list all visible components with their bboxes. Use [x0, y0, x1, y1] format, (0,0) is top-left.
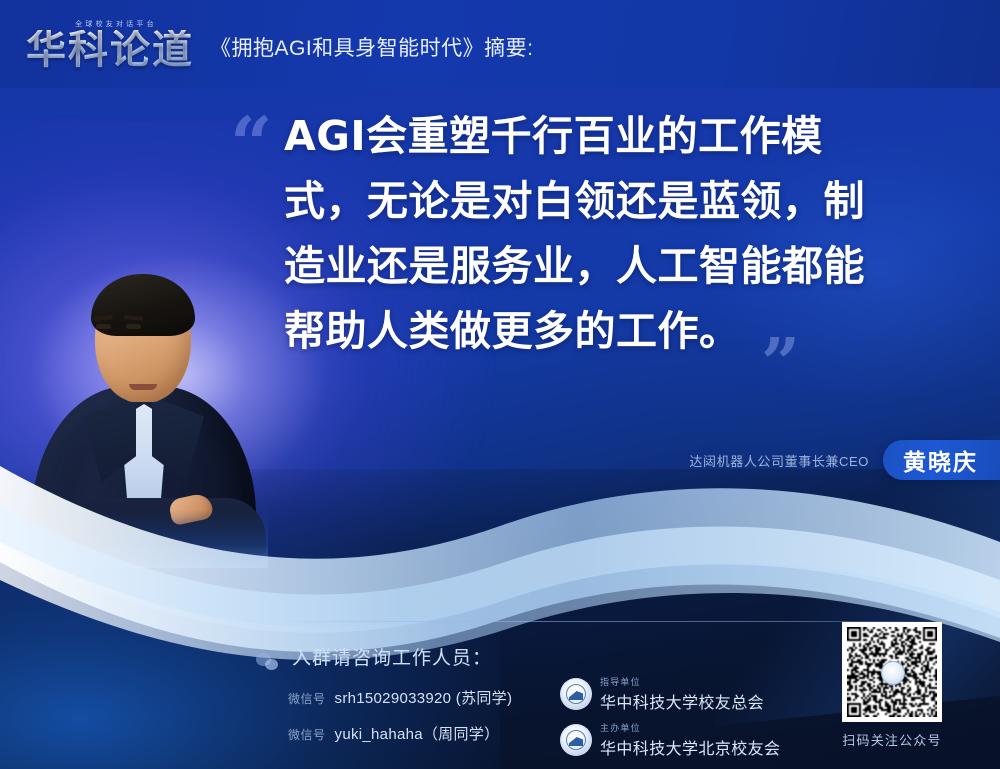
contact-row: 微信号 srh15029033920 (苏同学)	[288, 687, 512, 708]
contact-label: 微信号	[288, 690, 326, 707]
contact-value: yuki_hahaha（周同学）	[335, 723, 500, 744]
speaker-role: 达闼机器人公司董事长兼CEO	[689, 451, 869, 470]
organization-name: 华中科技大学校友总会	[600, 689, 764, 713]
contact-label: 微信号	[288, 726, 326, 743]
brand-logo-block: 全球校友对话平台 华科论道	[26, 19, 194, 70]
organization-name: 华中科技大学北京校友会	[600, 735, 780, 759]
quote-block: “ AGI会重塑千行百业的工作模 式，无论是对白领还是蓝领，制 造业还是服务业，…	[228, 104, 968, 364]
portrait-eye-left	[96, 324, 111, 329]
speaker-name-badge: 黄晓庆	[883, 440, 1000, 480]
page-title: 《拥抱AGI和具身智能时代》摘要:	[210, 26, 534, 62]
organization-row: 指导单位 华中科技大学校友总会	[560, 675, 780, 713]
quote-line: 式，无论是对白领还是蓝领，制	[284, 169, 968, 234]
qr-code-image[interactable]	[842, 622, 942, 722]
quote-line: 帮助人类做更多的工作。	[284, 299, 968, 364]
organizations-block: 指导单位 华中科技大学校友总会 主办单位 华中科技大学北京校友会	[560, 675, 780, 767]
organization-row: 主办单位 华中科技大学北京校友会	[560, 721, 780, 759]
qr-block: 扫码关注公众号	[836, 622, 948, 749]
qr-caption: 扫码关注公众号	[836, 730, 948, 749]
header-bar: 全球校友对话平台 华科论道 《拥抱AGI和具身智能时代》摘要:	[0, 0, 1000, 88]
qr-center-logo-icon	[881, 661, 905, 685]
quote-line: AGI会重塑千行百业的工作模	[284, 104, 968, 169]
contact-row: 微信号 yuki_hahaha（周同学）	[288, 723, 499, 744]
wechat-icon	[256, 653, 282, 673]
poster-root: 全球校友对话平台 华科论道 《拥抱AGI和具身智能时代》摘要:	[0, 0, 1000, 769]
portrait-eye-right	[126, 324, 141, 329]
quote-text: AGI会重塑千行百业的工作模 式，无论是对白领还是蓝领，制 造业还是服务业，人工…	[284, 104, 968, 364]
quote-open-mark: “	[230, 108, 273, 182]
quote-close-mark: ”	[761, 330, 800, 398]
university-emblem-icon	[560, 724, 592, 756]
footer-block: 入群请咨询工作人员： 微信号 srh15029033920 (苏同学) 微信号 …	[0, 609, 1000, 769]
attribution-block: 达闼机器人公司董事长兼CEO 黄晓庆	[689, 440, 1000, 480]
portrait-mouth	[129, 384, 157, 390]
portrait-bottom-fade	[18, 510, 268, 568]
university-emblem-icon	[560, 678, 592, 710]
contact-title: 入群请咨询工作人员：	[292, 643, 492, 670]
brand-logo-text: 华科论道	[26, 30, 194, 70]
organization-kind: 主办单位	[600, 721, 780, 734]
contact-value: srh15029033920 (苏同学)	[335, 687, 513, 708]
organization-kind: 指导单位	[600, 675, 764, 688]
quote-line: 造业还是服务业，人工智能都能	[284, 234, 968, 299]
